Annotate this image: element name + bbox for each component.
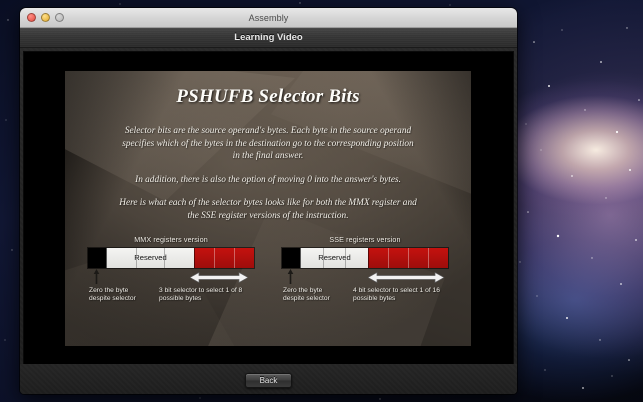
selector-cells <box>194 248 254 268</box>
desktop: Assembly Learning Video PSHUFB Selector … <box>0 0 643 402</box>
subheader-title: Learning Video <box>234 32 302 43</box>
diagram-caption-row: Zero the byte despite selector 4 bit sel… <box>281 287 449 304</box>
back-button[interactable]: Back <box>245 373 293 388</box>
selector-cell <box>368 248 388 268</box>
selector-cell <box>214 248 234 268</box>
video-canvas[interactable]: PSHUFB Selector Bits Selector bits are t… <box>24 52 513 365</box>
zero-bit-cell <box>88 248 107 268</box>
register-group-sse: SSE registers version Reserved <box>281 235 449 304</box>
slide-title: PSHUFB Selector Bits <box>65 86 471 108</box>
reserved-cell: Reserved <box>107 248 194 268</box>
register-bar: Reserved <box>281 247 449 269</box>
zero-bit-cell <box>282 248 301 268</box>
slide-paragraph-1: Selector bits are the source operand's b… <box>118 125 418 163</box>
selector-cell <box>388 248 408 268</box>
selector-range-arrow-icon <box>190 272 248 283</box>
video-player[interactable]: PSHUFB Selector Bits Selector bits are t… <box>23 51 514 383</box>
application-window: Assembly Learning Video PSHUFB Selector … <box>20 8 517 394</box>
register-group-label: SSE registers version <box>281 235 449 244</box>
selector-cell <box>194 248 214 268</box>
diagram-caption-row: Zero the byte despite selector 3 bit sel… <box>87 287 255 304</box>
selector-cell <box>234 248 254 268</box>
selector-cell <box>428 248 448 268</box>
presentation-slide: PSHUFB Selector Bits Selector bits are t… <box>65 71 471 346</box>
window-body: PSHUFB Selector Bits Selector bits are t… <box>20 48 517 394</box>
caption-zero-byte: Zero the byte despite selector <box>89 287 151 304</box>
reserved-cell: Reserved <box>301 248 368 268</box>
window-titlebar[interactable]: Assembly <box>20 8 517 28</box>
register-bar: Reserved <box>87 247 255 269</box>
subheader-bar: Learning Video <box>20 28 517 48</box>
diagram-arrow-row <box>281 269 449 286</box>
caption-selector-bits: 3 bit selector to select 1 of 8 possible… <box>159 287 255 304</box>
register-diagram: MMX registers version Reserved <box>65 235 471 304</box>
caption-selector-bits: 4 bit selector to select 1 of 16 possibl… <box>353 287 449 304</box>
footer-bar: Back <box>20 364 517 394</box>
diagram-arrow-row <box>87 269 255 286</box>
selector-range-arrow-icon <box>368 272 444 283</box>
register-group-mmx: MMX registers version Reserved <box>87 235 255 304</box>
window-title: Assembly <box>20 13 517 23</box>
selector-cells <box>368 248 448 268</box>
slide-paragraph-3: Here is what each of the selector bytes … <box>114 197 422 222</box>
zero-bit-pointer-icon <box>287 269 294 284</box>
register-group-label: MMX registers version <box>87 235 255 244</box>
caption-zero-byte: Zero the byte despite selector <box>283 287 345 304</box>
slide-paragraph-2: In addition, there is also the option of… <box>103 174 433 187</box>
zero-bit-pointer-icon <box>93 269 100 284</box>
selector-cell <box>408 248 428 268</box>
